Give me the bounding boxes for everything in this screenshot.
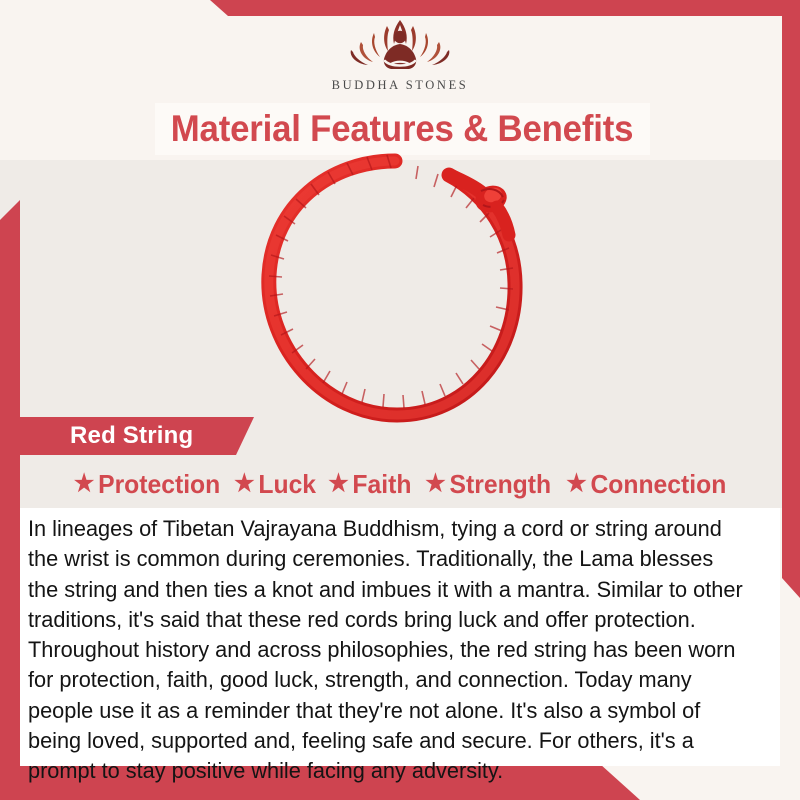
benefit-label: Connection [590, 469, 726, 500]
product-name-banner: Red String [14, 417, 254, 455]
benefit-label: Protection [98, 469, 220, 500]
star-icon: ★ [328, 472, 348, 496]
benefit-item-faith: ★ Faith [324, 469, 415, 500]
benefit-item-strength: ★ Strength [421, 469, 554, 500]
product-image [0, 160, 800, 425]
brand-wordmark: BUDDHA STONES [332, 78, 469, 93]
benefit-label: Luck [258, 469, 316, 500]
description-card: In lineages of Tibetan Vajrayana Buddhis… [20, 508, 780, 766]
product-name: Red String [70, 422, 193, 450]
benefit-label: Strength [449, 469, 551, 500]
star-icon: ★ [566, 472, 586, 496]
benefit-item-connection: ★ Connection [562, 469, 730, 500]
benefit-item-luck: ★ Luck [230, 469, 319, 500]
brand-header: BUDDHA STONES [0, 14, 800, 100]
benefit-item-protection: ★ Protection [70, 469, 224, 500]
infographic-page: BUDDHA STONES Material Features & Benefi… [0, 0, 800, 800]
star-icon: ★ [73, 472, 93, 496]
benefits-list: ★ Protection ★ Luck ★ Faith ★ Strength ★… [0, 463, 800, 505]
lotus-meditation-icon [335, 14, 465, 76]
star-icon: ★ [425, 472, 445, 496]
description-paragraph: In lineages of Tibetan Vajrayana Buddhis… [28, 514, 744, 787]
benefit-label: Faith [352, 469, 411, 500]
star-icon: ★ [234, 472, 254, 496]
